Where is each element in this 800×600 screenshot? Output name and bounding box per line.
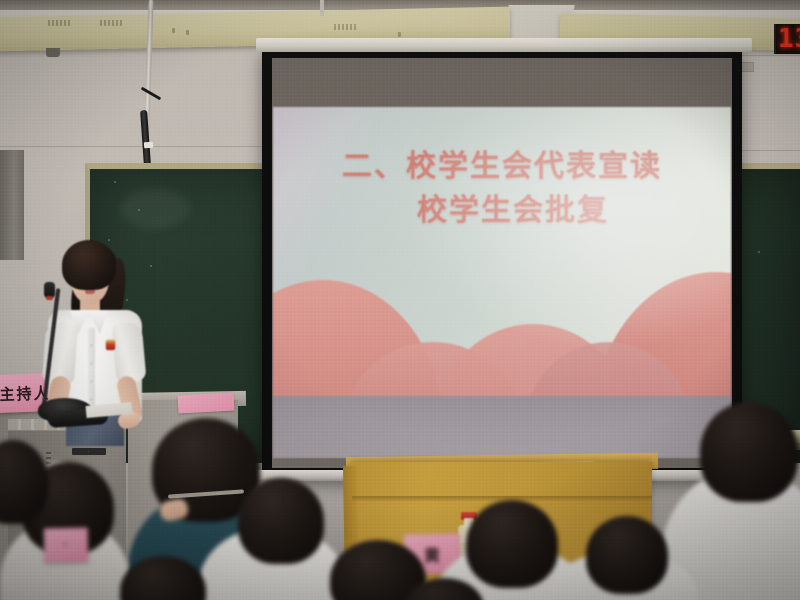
beam-mark [186, 30, 189, 35]
ceiling-fixture [46, 48, 60, 57]
cable-tape-marker [144, 142, 153, 149]
audience-head [466, 500, 558, 588]
microphone-indicator [46, 296, 53, 300]
lapel-pin-badge [106, 340, 115, 350]
audience-name-card: · [44, 528, 89, 563]
beam-mark [398, 32, 401, 37]
beam-notch-icon [48, 20, 70, 26]
wall-seam [0, 146, 262, 147]
audience-head [700, 402, 798, 502]
wall-outlet [740, 62, 754, 72]
audience-head [586, 516, 668, 594]
projected-slide: 二、校学生会代表宣读 校学生会批复 [273, 107, 731, 458]
clock-digits: 13 [778, 24, 800, 54]
beam-notch-icon [100, 20, 122, 26]
audience-head [238, 478, 324, 564]
table-name-card-text: 黄 [424, 542, 440, 566]
pink-paper-on-desk [178, 393, 235, 414]
screen-roller-housing [256, 38, 752, 52]
speaker-hair-top [62, 240, 116, 290]
classroom-photo: 二、校学生会代表宣读 校学生会批复 13 黄 · 主持人 [0, 0, 800, 600]
beam-notch-icon [334, 24, 356, 30]
slide-title: 二、校学生会代表宣读 校学生会批复 [273, 145, 731, 232]
ceiling-conduit [320, 0, 324, 16]
wall-seam-upper-right [742, 55, 800, 56]
led-digital-clock: 13 [774, 24, 800, 54]
slide-title-line-1: 二、校学生会代表宣读 [342, 149, 662, 184]
wall-column-box [0, 150, 24, 260]
podium-equipment-label: · [72, 448, 106, 455]
beam-mark [172, 28, 175, 33]
wall-seam-right [742, 150, 800, 151]
slide-title-line-2: 校学生会批复 [273, 189, 731, 233]
